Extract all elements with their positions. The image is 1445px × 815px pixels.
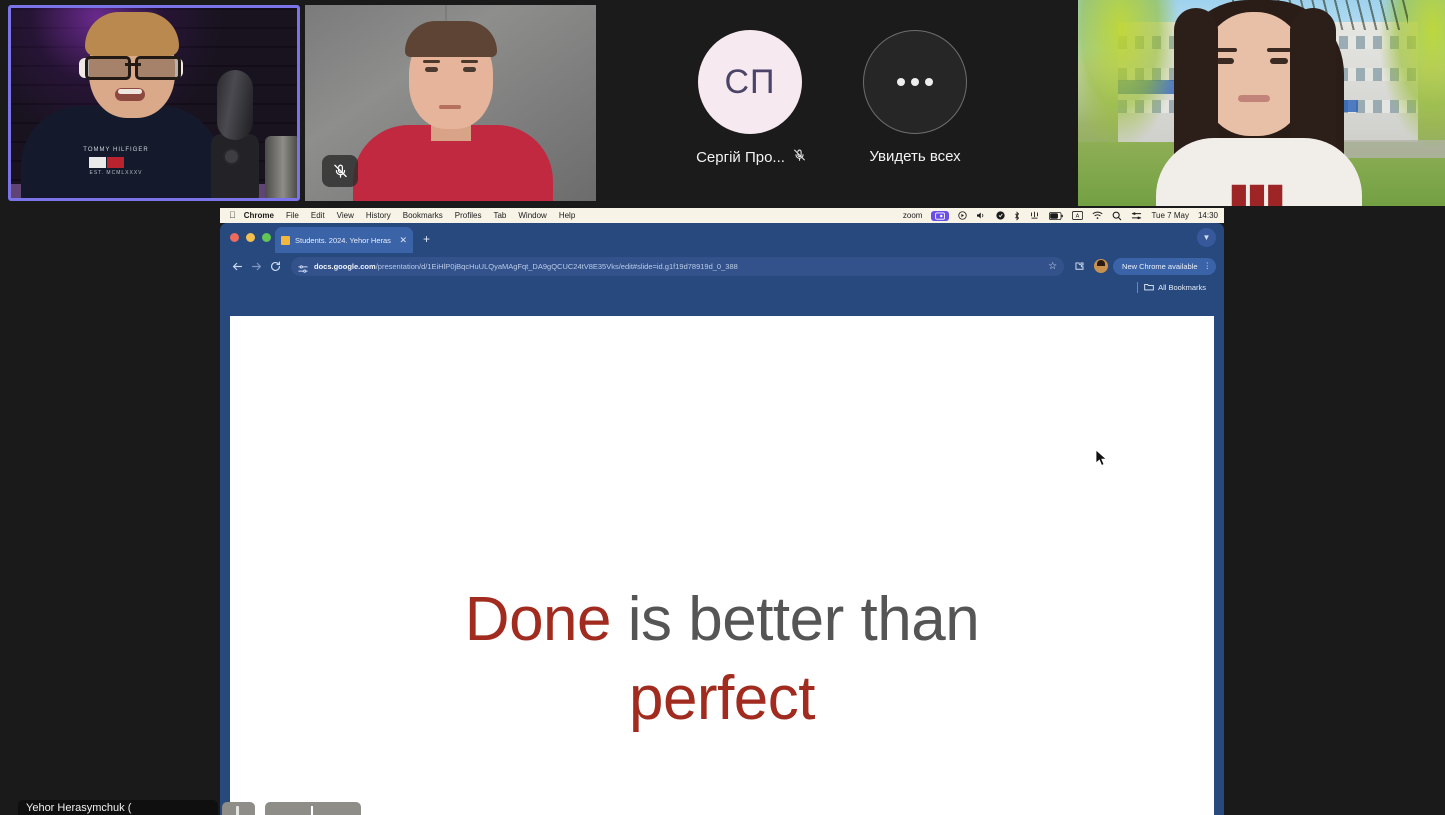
input-source-icon[interactable]: A [1072, 211, 1083, 220]
browser-toolbar: docs.google.com/presentation/d/1EiHlP0jB… [220, 253, 1224, 279]
chrome-window:  Chrome File Edit View History Bookmark… [220, 208, 1224, 815]
new-tab-button[interactable]: + [423, 233, 430, 245]
menubar-time[interactable]: 14:30 [1198, 211, 1218, 220]
menu-file[interactable]: File [286, 211, 299, 220]
tab-title: Students. 2024. Yehor Heras [295, 236, 394, 245]
record-icon[interactable] [958, 211, 967, 220]
extensions-puzzle-icon[interactable] [1070, 257, 1089, 276]
menu-history[interactable]: History [366, 211, 391, 220]
url-domain: docs.google.com [314, 262, 376, 271]
divider [1137, 282, 1138, 293]
menu-edit[interactable]: Edit [311, 211, 325, 220]
mic-muted-icon [793, 148, 806, 167]
screen: TOMMY HILFIGER EST. MCMLXXXV [0, 0, 1445, 815]
all-bookmarks-button[interactable]: All Bookmarks [1144, 283, 1206, 293]
shirt-brand-line1: TOMMY HILFIGER [81, 147, 151, 153]
sound-output-icon[interactable] [976, 211, 987, 220]
slide-word-perfect: perfect [230, 660, 1214, 739]
all-bookmarks-label: All Bookmarks [1158, 283, 1206, 292]
participant-tile-2[interactable] [305, 5, 596, 201]
url-path: /presentation/d/1EiHlP0jBqcHuULQyaMAgFqt… [376, 262, 738, 271]
participant-4-video: ███ [1078, 0, 1445, 206]
close-traffic-light[interactable] [230, 233, 239, 242]
bluetooth-icon[interactable] [1014, 211, 1020, 221]
slide-canvas[interactable]: Done is better than perfect [230, 316, 1214, 815]
menu-view[interactable]: View [337, 211, 354, 220]
kebab-menu-icon[interactable]: ⋮ [1204, 263, 1212, 268]
menu-help[interactable]: Help [559, 211, 575, 220]
close-icon[interactable]: ✕ [399, 236, 407, 245]
zoom-status-label[interactable]: zoom [903, 211, 923, 220]
video-camera-icon[interactable] [265, 802, 361, 815]
airdrop-icon[interactable] [1029, 211, 1040, 220]
control-center-icon[interactable] [1131, 211, 1142, 221]
participant-tile-4[interactable]: ███ [1078, 0, 1445, 206]
menu-bookmarks[interactable]: Bookmarks [403, 211, 443, 220]
screen-share-icon[interactable] [931, 211, 949, 221]
vpn-shield-icon[interactable] [996, 211, 1005, 220]
zoom-video-strip: TOMMY HILFIGER EST. MCMLXXXV [0, 0, 1445, 206]
shirt-logo: TOMMY HILFIGER EST. MCMLXXXV [81, 148, 151, 178]
microphone-icon[interactable] [222, 802, 255, 815]
window-traffic-lights [230, 233, 271, 242]
ellipsis-icon [897, 78, 933, 86]
wifi-icon[interactable] [1092, 211, 1103, 220]
maximize-traffic-light[interactable] [262, 233, 271, 242]
menu-chrome[interactable]: Chrome [244, 211, 274, 220]
tune-icon[interactable] [298, 261, 308, 271]
address-bar[interactable]: docs.google.com/presentation/d/1EiHlP0jB… [291, 257, 1064, 276]
participant-1-video: TOMMY HILFIGER EST. MCMLXXXV [11, 8, 297, 198]
participant-tile-3[interactable]: СП Сергій Про... Увидеть всех [596, 0, 1078, 206]
spotlight-search-icon[interactable] [1112, 211, 1122, 221]
see-all-label: Увидеть всех [815, 148, 1015, 165]
folder-icon [1144, 283, 1154, 293]
see-all-button[interactable] [863, 30, 967, 134]
mic-muted-icon [322, 155, 358, 187]
participant-tile-1[interactable]: TOMMY HILFIGER EST. MCMLXXXV [8, 5, 300, 201]
self-view-nameplate: Yehor Herasymchuk ( [18, 800, 218, 815]
shirt-brand-line2: EST. MCMLXXXV [81, 170, 151, 176]
browser-tab-active[interactable]: Students. 2024. Yehor Heras ✕ [275, 227, 413, 253]
menu-window[interactable]: Window [518, 211, 546, 220]
participant-3-name: Сергій Про... [696, 149, 785, 166]
battery-icon[interactable] [1049, 212, 1063, 220]
svg-text:A: A [1076, 213, 1080, 219]
new-chrome-available-button[interactable]: New Chrome available ⋮ [1113, 258, 1216, 275]
slide-headline: Done is better than perfect [230, 581, 1214, 738]
slide-line1-rest: is better than [611, 585, 979, 654]
star-icon[interactable]: ☆ [1048, 261, 1057, 272]
slide-word-done: Done [465, 585, 611, 654]
update-label: New Chrome available [1122, 262, 1197, 271]
chrome-browser: Students. 2024. Yehor Heras ✕ + ▼ [220, 223, 1224, 815]
arrow-right-icon[interactable] [247, 257, 266, 276]
tab-strip: Students. 2024. Yehor Heras ✕ + ▼ [220, 223, 1224, 253]
menu-tab[interactable]: Tab [493, 211, 506, 220]
avatar: СП [698, 30, 802, 134]
chevron-down-icon[interactable]: ▼ [1197, 228, 1216, 247]
arrow-left-icon[interactable] [228, 257, 247, 276]
menubar-date[interactable]: Tue 7 May [1151, 211, 1189, 220]
avatar-initials: СП [725, 63, 776, 102]
minimize-traffic-light[interactable] [246, 233, 255, 242]
reload-icon[interactable] [266, 257, 285, 276]
apple-logo-icon[interactable]:  [229, 211, 236, 220]
menubar-status-area: zoom [903, 211, 1224, 221]
bookmarks-bar: All Bookmarks [220, 279, 1224, 296]
address-bar-url: docs.google.com/presentation/d/1EiHlP0jB… [314, 262, 738, 271]
slides-favicon [281, 236, 290, 245]
profile-avatar[interactable] [1094, 259, 1108, 273]
macos-menubar:  Chrome File Edit View History Bookmark… [220, 208, 1224, 223]
mouse-pointer-icon [1096, 450, 1108, 468]
menu-profiles[interactable]: Profiles [455, 211, 482, 220]
